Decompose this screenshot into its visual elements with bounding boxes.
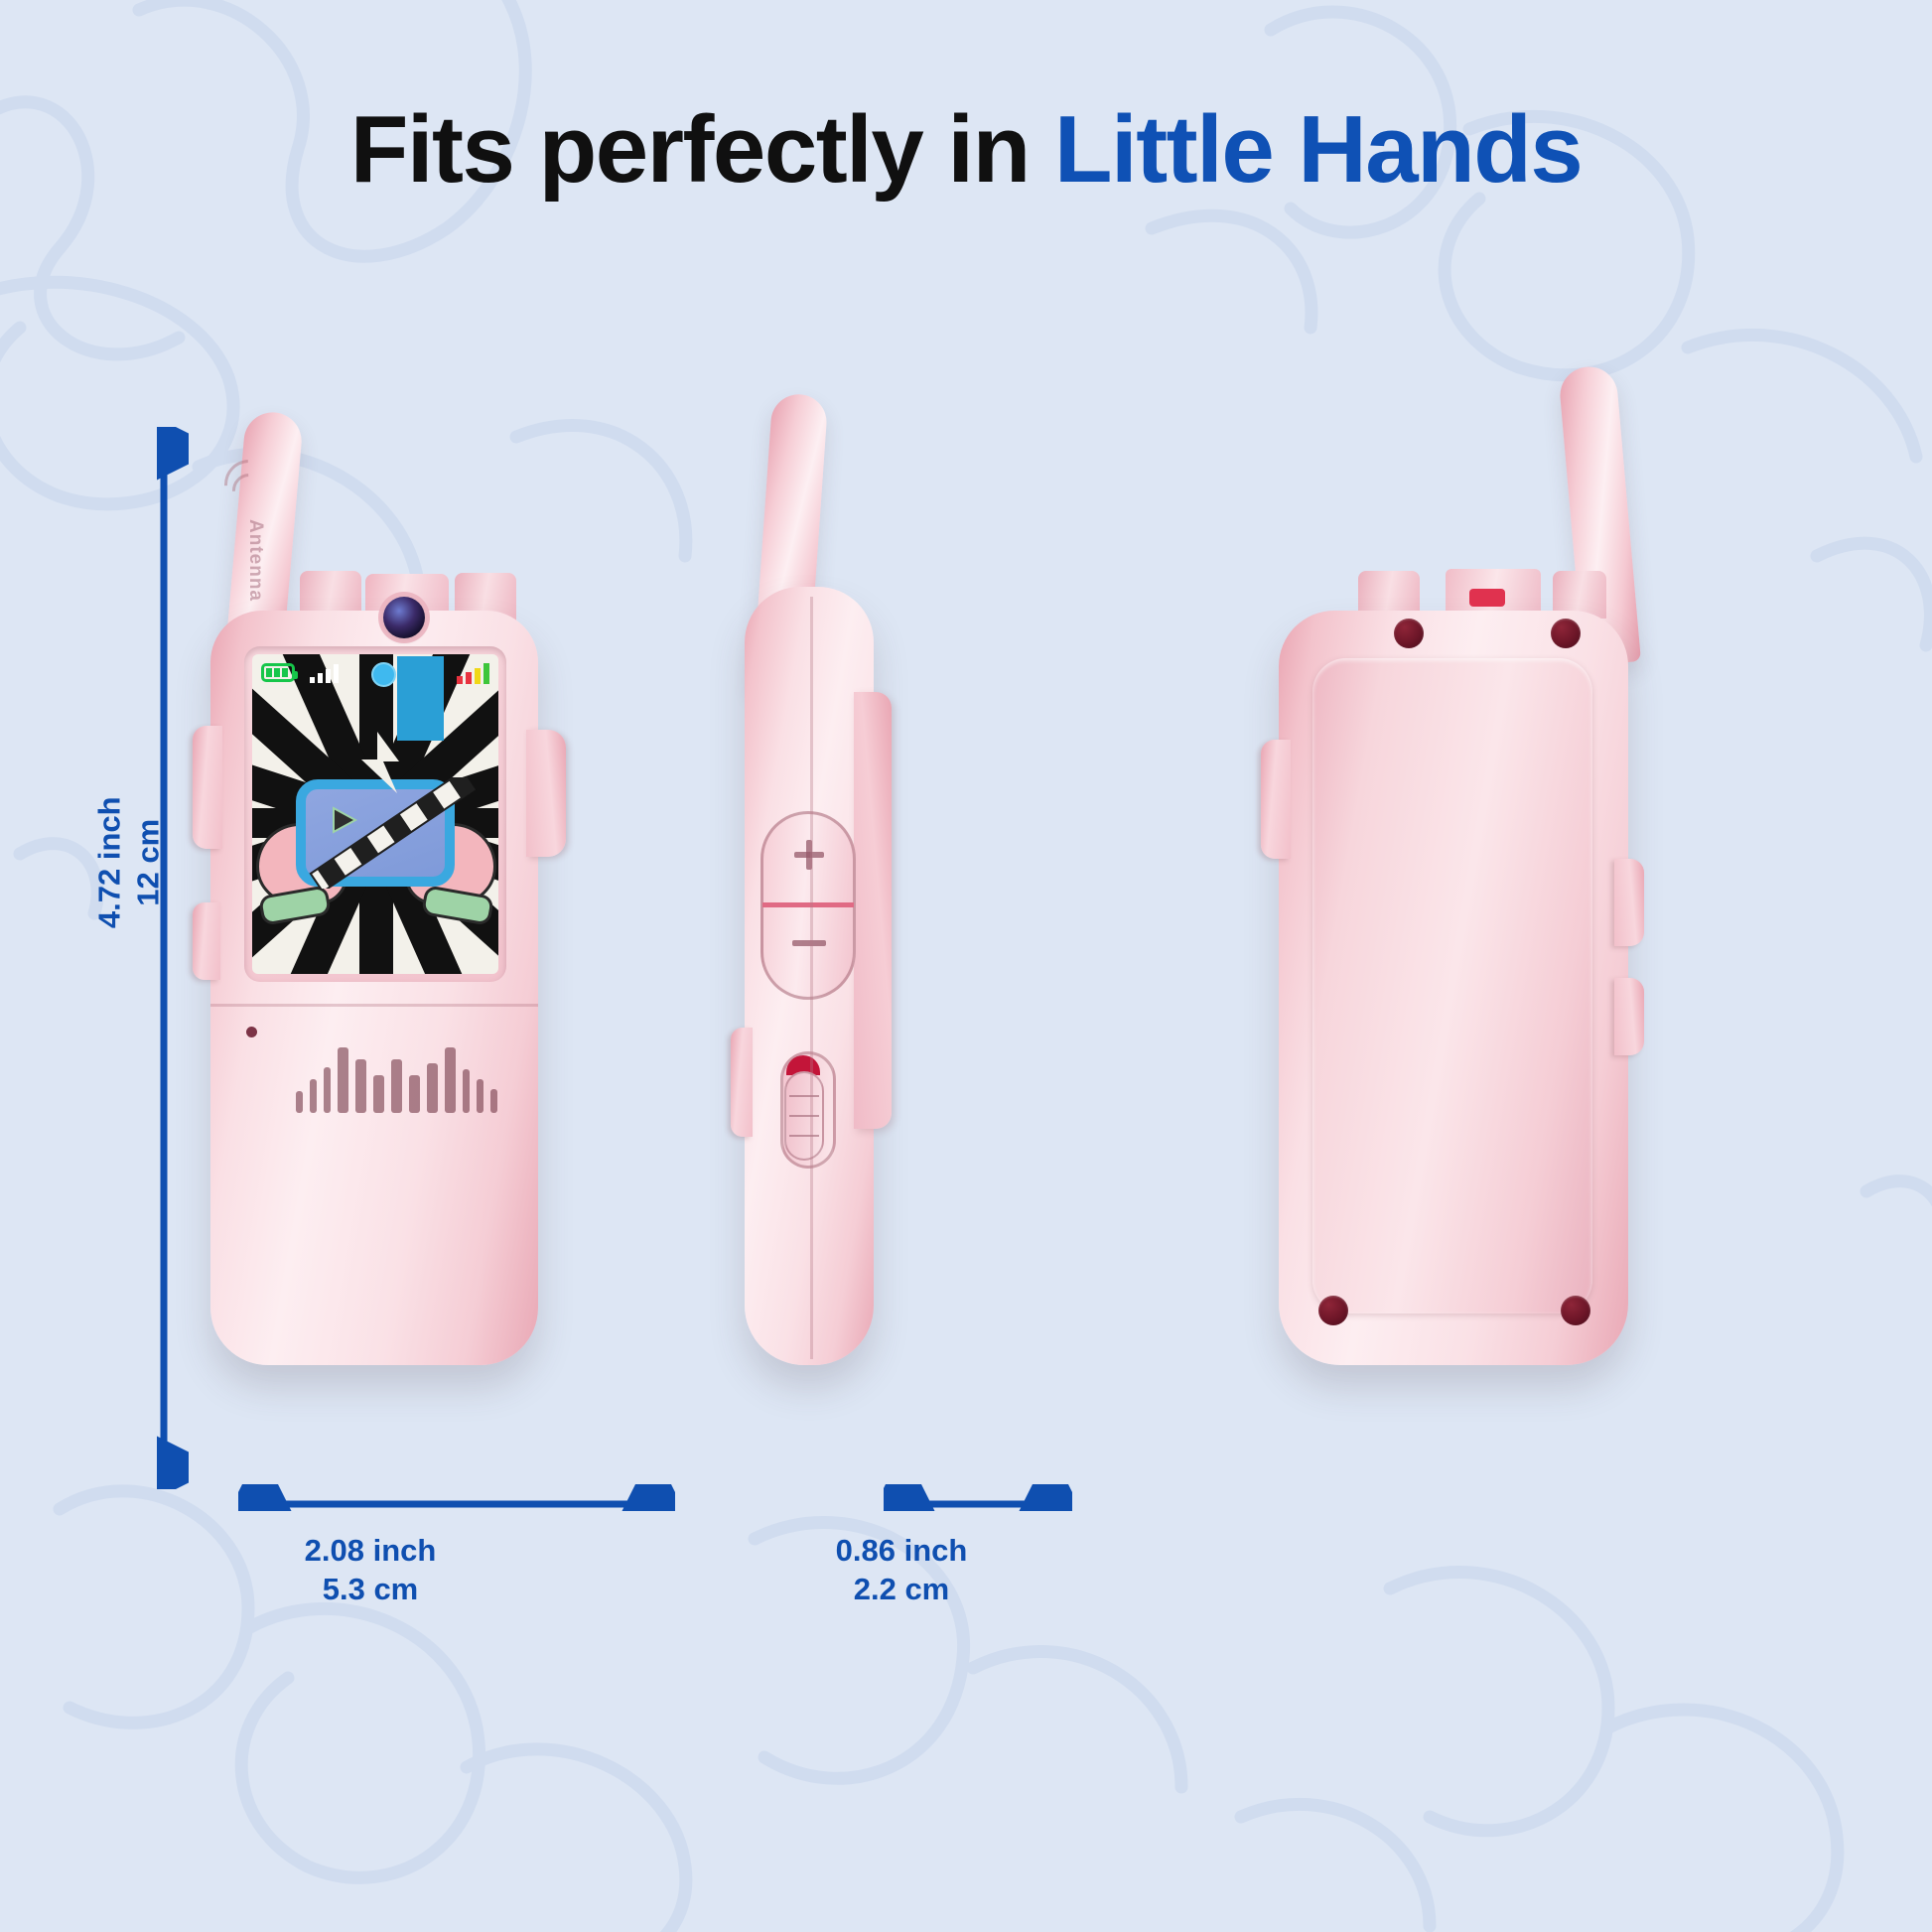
front-body-seam	[210, 1004, 538, 1007]
back-right-button-lower[interactable]	[1614, 978, 1644, 1055]
side-width-cm: 2.2 cm	[713, 1571, 1090, 1609]
walkie-talkie-side-view	[695, 412, 953, 1474]
front-left-button-upper[interactable]	[193, 726, 222, 849]
height-inch: 4.72 inch	[90, 793, 129, 932]
signal-bars-icon	[310, 664, 339, 683]
battery-icon	[261, 663, 295, 682]
speaker-grille-icon	[409, 1075, 420, 1113]
minus-icon	[792, 940, 826, 946]
page-title: Fits perfectly in Little Hands	[0, 97, 1932, 203]
walkie-talkie-front-view: Antenna	[189, 412, 596, 1474]
speaker-grille-icon	[391, 1059, 402, 1113]
front-left-button-lower[interactable]	[193, 902, 220, 980]
speaker-grille-icon	[445, 1047, 456, 1113]
front-width-inch: 2.08 inch	[202, 1532, 539, 1571]
clip-red-marker	[1469, 589, 1505, 607]
title-accent: Little Hands	[1054, 96, 1582, 203]
front-width-dimension-label: 2.08 inch 5.3 cm	[202, 1532, 539, 1609]
side-width-inch: 0.86 inch	[713, 1532, 1090, 1571]
clapperboard-icon	[308, 777, 477, 889]
side-ptt-block[interactable]	[854, 692, 892, 1129]
microphone-hole-icon	[246, 1027, 257, 1037]
speaker-grille-icon	[463, 1069, 470, 1113]
screw-icon	[1561, 1296, 1590, 1325]
screen-blue-banner	[397, 656, 444, 741]
screen-status-bar	[252, 658, 498, 684]
side-width-dimension-arrow	[884, 1484, 1072, 1524]
front-width-dimension-arrow	[238, 1484, 675, 1524]
back-right-button-upper[interactable]	[1614, 859, 1644, 946]
height-cm: 12 cm	[129, 793, 168, 932]
antenna-label: Antenna	[244, 519, 266, 602]
side-left-bulge	[731, 1028, 753, 1137]
speaker-grille-icon	[477, 1079, 483, 1113]
height-dimension-label: 4.72 inch 12 cm	[90, 793, 168, 932]
speaker-grille-icon	[490, 1089, 497, 1113]
infographic-canvas: Fits perfectly in Little Hands 4.72 inch…	[0, 0, 1932, 1932]
title-plain: Fits perfectly in	[350, 96, 1054, 203]
speaker-grille-icon	[355, 1059, 366, 1113]
front-right-ptt-button[interactable]	[526, 730, 566, 857]
screw-icon	[1318, 1296, 1348, 1325]
speaker-grille-icon	[324, 1067, 331, 1113]
level-meter-icon	[457, 663, 489, 684]
side-body-seam	[810, 597, 813, 1359]
height-dimension-arrow	[139, 427, 189, 1489]
rocker-divider	[762, 902, 854, 907]
speaker-grille-icon	[373, 1075, 384, 1113]
walkie-talkie-back-view	[1261, 412, 1727, 1474]
side-width-dimension-label: 0.86 inch 2.2 cm	[713, 1532, 1090, 1609]
power-slider-knob[interactable]	[784, 1071, 824, 1161]
screw-icon	[1394, 619, 1424, 648]
front-width-cm: 5.3 cm	[202, 1571, 539, 1609]
speaker-grille-icon	[296, 1091, 303, 1113]
screen-blue-dot	[371, 662, 396, 687]
speaker-grille-icon	[310, 1079, 317, 1113]
battery-door[interactable]	[1312, 658, 1592, 1313]
screw-icon	[1551, 619, 1581, 648]
speaker-grille-icon	[338, 1047, 348, 1113]
display-screen	[252, 654, 498, 974]
back-left-button[interactable]	[1261, 740, 1291, 859]
speaker-grille-icon	[427, 1063, 438, 1113]
camera-lens-icon	[383, 597, 425, 638]
